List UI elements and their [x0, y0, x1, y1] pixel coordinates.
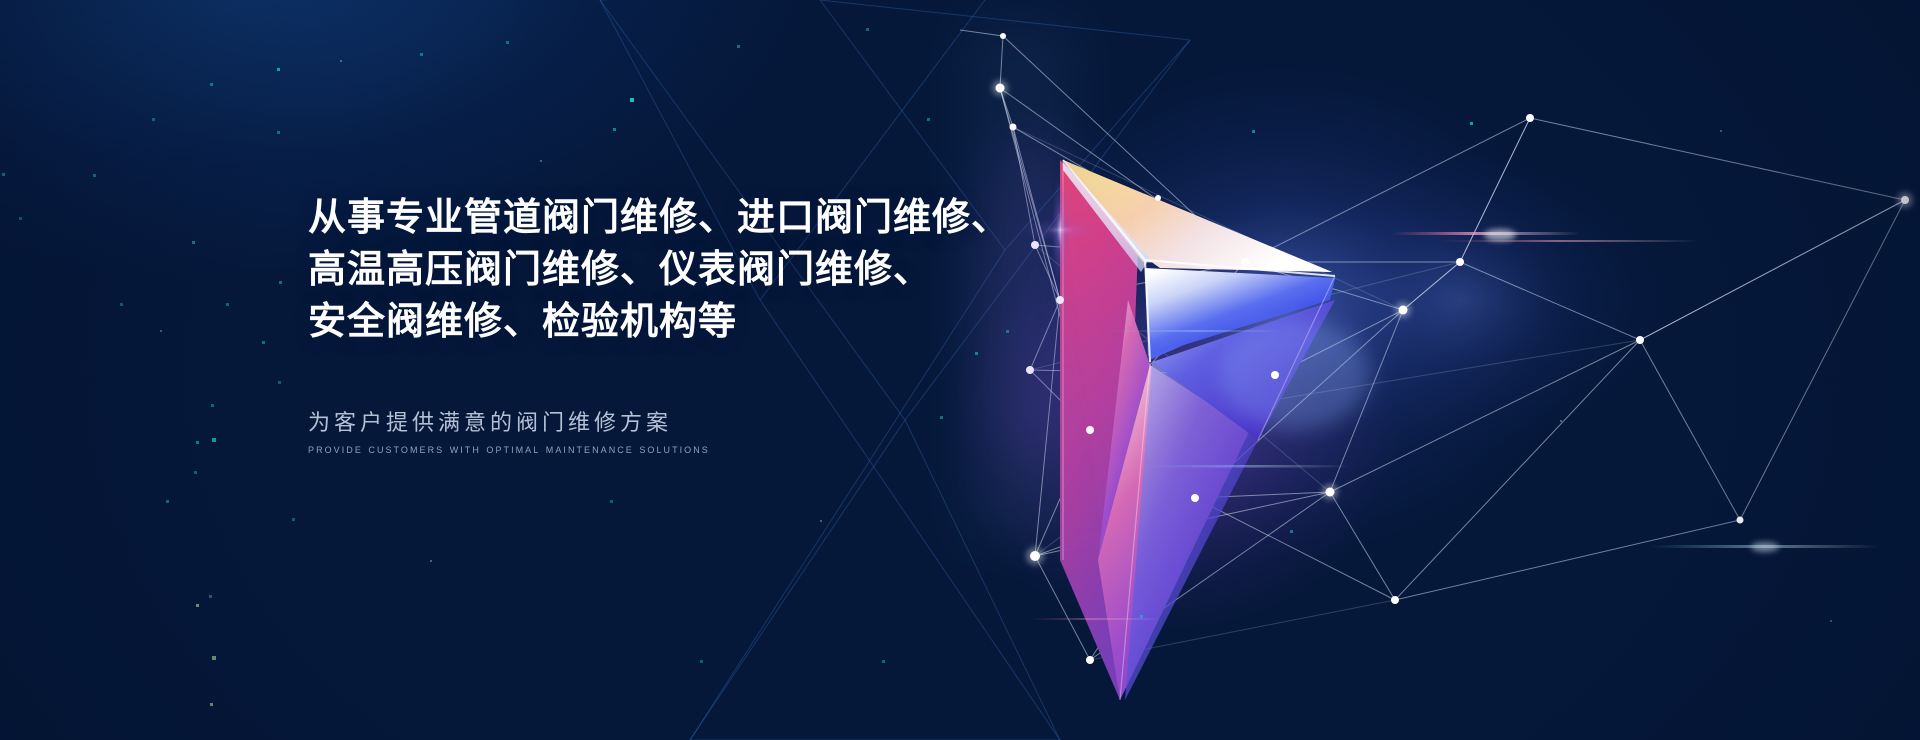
hero-banner: 从事专业管道阀门维修、进口阀门维修、 高温高压阀门维修、仪表阀门维修、 安全阀维…	[0, 0, 1920, 740]
prism-inner-edge	[1063, 162, 1150, 272]
streak-lower	[1150, 465, 1350, 468]
prism-face-left-upper	[1060, 160, 1138, 700]
subtitle-block: 为客户提供满意的阀门维修方案 Provide customers with op…	[308, 408, 1068, 456]
wireframe-secondary	[1013, 127, 1640, 660]
streak-right-upper	[1390, 232, 1580, 235]
face-bloom	[1220, 320, 1370, 430]
prism-face-lower-left	[1098, 300, 1150, 560]
headline-line-3: 安全阀维修、检验机构等	[308, 296, 1068, 348]
prism-edges-soft	[1063, 160, 1335, 700]
prism-face-top	[1063, 160, 1332, 272]
prism-shape	[1060, 160, 1335, 700]
flare-spot-b	[1751, 542, 1779, 552]
flare-spot-a	[1484, 229, 1516, 241]
headline-line-2: 高温高压阀门维修、仪表阀门维修、	[308, 244, 1068, 296]
streak-right-upper-2	[1440, 240, 1700, 242]
prism-face-right	[1145, 268, 1335, 356]
streak-bottom-left	[1030, 618, 1160, 620]
headline-line-1: 从事专业管道阀门维修、进口阀门维修、	[308, 192, 1068, 244]
right-glow	[1250, 150, 1670, 450]
hero-content: 从事专业管道阀门维修、进口阀门维修、 高温高压阀门维修、仪表阀门维修、 安全阀维…	[308, 192, 1068, 456]
network-nodes-glow	[992, 80, 1913, 565]
streak-mid	[1110, 330, 1280, 332]
subtitle-english: Provide customers with optimal maintenan…	[308, 442, 1068, 456]
prism-face-right-upper	[1147, 272, 1330, 360]
streak-bottom-right	[1650, 545, 1880, 548]
network-nodes	[996, 33, 1910, 664]
core-glow	[985, 60, 1585, 560]
prism-face-lower	[1098, 365, 1250, 700]
prism-blade-top	[1063, 160, 1332, 272]
prism-face-lower-right	[1152, 300, 1335, 440]
prism-face-left-wall	[1060, 160, 1138, 700]
wireframe-network	[960, 30, 1905, 660]
prism-edges	[1063, 160, 1335, 362]
prism-face-top-inner	[1063, 160, 1330, 272]
lens-flares	[1020, 178, 1880, 620]
subtitle-chinese: 为客户提供满意的阀门维修方案	[308, 408, 1068, 438]
headline: 从事专业管道阀门维修、进口阀门维修、 高温高压阀门维修、仪表阀门维修、 安全阀维…	[308, 192, 1068, 348]
prism-face-lower-right-2	[1125, 362, 1258, 700]
